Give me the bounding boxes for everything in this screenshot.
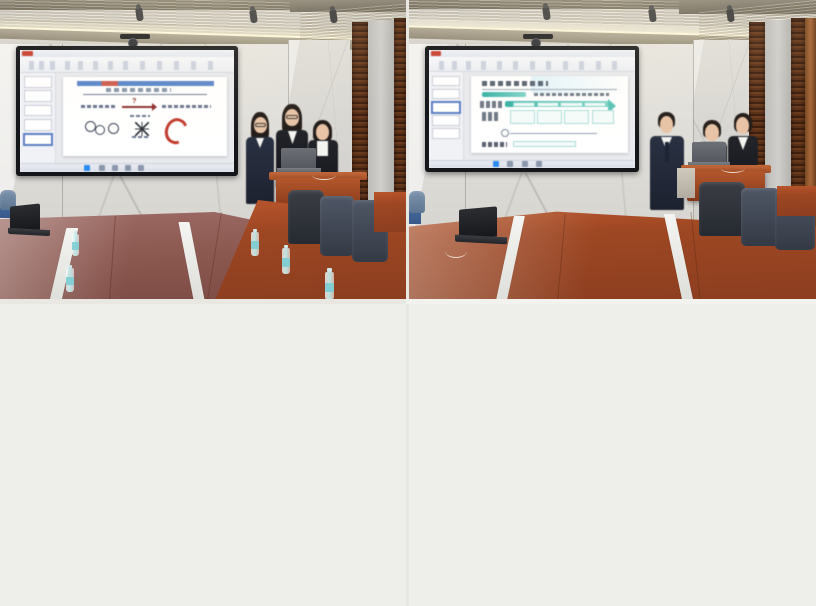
taskbar-app-icon[interactable] (493, 161, 499, 167)
slide-thumbnail-selected[interactable] (432, 102, 459, 112)
ceiling-spotlight (250, 10, 257, 23)
slide-row-label (480, 101, 502, 108)
slide-step (537, 102, 559, 107)
slide-step (513, 102, 535, 107)
presentation-app[interactable]: ? (20, 50, 234, 172)
slide-thumbnail-selected[interactable] (24, 134, 52, 146)
taskbar-app-icon[interactable] (112, 165, 118, 171)
laptop-screen (692, 142, 726, 164)
photo-panel-top-left: ? (0, 0, 406, 299)
photo-panel-top-right (409, 0, 816, 299)
slide-editing-stage[interactable]: ? (56, 73, 234, 163)
face (660, 116, 673, 133)
reaction-cross-icon (135, 122, 149, 136)
slide-detail-box (537, 110, 562, 124)
conference-chair (741, 188, 779, 246)
water-bottle (282, 248, 290, 274)
slide-reaction-arrow (122, 106, 153, 108)
presenter-left (245, 112, 275, 204)
power-cord (312, 170, 336, 180)
taskbar-app-icon[interactable] (536, 161, 542, 167)
slide-detail-box (592, 110, 614, 124)
slide-footnote (132, 136, 148, 138)
taskbar-app-icon[interactable] (507, 161, 513, 167)
slide-detail-box (564, 110, 589, 124)
face (736, 117, 749, 134)
water-bottle (72, 234, 79, 256)
conference-chair (320, 196, 354, 256)
slide-cell-text (482, 112, 499, 121)
slide-step (560, 102, 582, 107)
slide-thumbnail[interactable] (24, 90, 52, 102)
ceiling-spotlight (136, 8, 143, 21)
slide-detail-box (510, 110, 535, 124)
current-slide: ? (63, 77, 226, 156)
water-bottle (66, 268, 74, 292)
slide-right-text (162, 105, 211, 108)
mechanism-curl-icon (160, 115, 191, 148)
slide-note (534, 93, 609, 96)
ceiling-spotlight (649, 9, 656, 22)
taskbar-app-icon[interactable] (138, 165, 144, 171)
collage-gutter-horizontal (0, 304, 406, 606)
os-taskbar[interactable] (20, 166, 234, 172)
app-title-bar (429, 50, 635, 57)
slide-question-marker: ? (132, 98, 136, 105)
app-title-bar (20, 50, 234, 57)
os-taskbar[interactable] (429, 162, 635, 168)
taskbar-app-icon[interactable] (125, 165, 131, 171)
conference-chair (699, 182, 745, 236)
app-ribbon[interactable] (20, 57, 234, 73)
slide-thumbnail[interactable] (432, 89, 459, 99)
molecule-ring (95, 125, 105, 135)
app-menu-tab[interactable] (22, 51, 33, 56)
slide-loop-glyph (501, 129, 509, 137)
slide-divider (482, 89, 617, 90)
collage-gutter-horizontal (409, 304, 816, 606)
power-cord (445, 244, 467, 258)
slide-divider (83, 94, 207, 95)
ceiling-spotlight (543, 7, 550, 20)
slide-title (482, 81, 548, 86)
app-ribbon[interactable] (429, 57, 635, 72)
app-menu-tab[interactable] (431, 51, 441, 56)
necktie (665, 142, 669, 162)
slide-thumbnail[interactable] (432, 115, 459, 125)
slide-thumbnail[interactable] (24, 105, 52, 117)
current-slide (471, 76, 628, 153)
laptop-screen (281, 148, 316, 170)
photo-collage: ? (0, 0, 816, 606)
collar (317, 141, 328, 156)
taskbar-app-icon[interactable] (84, 165, 90, 171)
slide-thumbnail[interactable] (432, 76, 459, 86)
ceiling-spotlight (727, 9, 734, 22)
side-chair (409, 191, 425, 213)
slide-thumbnail[interactable] (24, 119, 52, 131)
ceiling-spotlight (330, 10, 337, 23)
slide-left-text (81, 105, 117, 108)
presentation-app[interactable] (429, 50, 635, 168)
slide-tab-strip (77, 81, 214, 86)
face (316, 124, 329, 140)
glasses-icon (286, 115, 298, 119)
slide-highlight-pill (482, 92, 526, 97)
display-screen[interactable] (429, 50, 635, 168)
slide-title (106, 88, 171, 92)
glasses-icon (255, 123, 266, 127)
water-bottle (251, 232, 259, 256)
face (705, 124, 719, 141)
slide-thumbnail[interactable] (432, 128, 459, 138)
slide-editing-stage[interactable] (464, 72, 635, 159)
slide-footer-box (513, 141, 576, 147)
conference-chair (288, 190, 324, 244)
molecule-ring (108, 123, 119, 134)
water-bottle (325, 272, 334, 299)
display-screen[interactable]: ? (20, 50, 234, 172)
slide-footnote (130, 115, 150, 117)
taskbar-app-icon[interactable] (99, 165, 105, 171)
slide-thumbnail-pane[interactable] (429, 72, 464, 159)
slide-step (584, 102, 606, 107)
taskbar-app-icon[interactable] (522, 161, 528, 167)
slide-thumbnail[interactable] (24, 76, 52, 88)
slide-thumbnail-pane[interactable] (20, 73, 56, 163)
power-cord (721, 164, 745, 173)
wall-display[interactable] (425, 46, 639, 172)
wall-display[interactable]: ? (16, 46, 238, 176)
